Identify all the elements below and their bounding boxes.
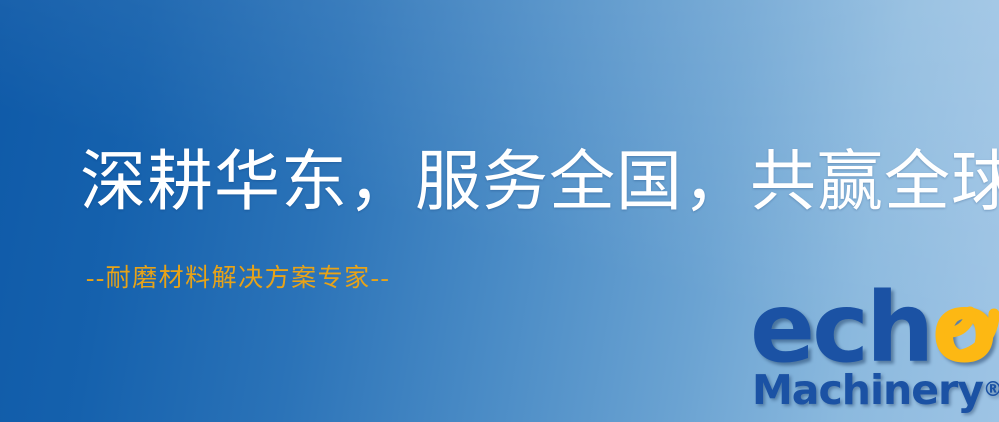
promo-banner: 深耕华东，服务全国，共赢全球 --耐磨材料解决方案专家-- echo Machi… [0,0,999,422]
logo-wordmark: echo [748,296,999,374]
echo-machinery-logo: echo Machinery® [748,296,999,422]
registered-trademark-icon: ® [983,377,999,401]
logo-machinery-text: Machinery [752,366,983,414]
banner-subtitle: --耐磨材料解决方案专家-- [86,266,390,291]
banner-headline: 深耕华东，服务全国，共赢全球 [80,150,999,216]
logo-company-name: Machinery® [752,370,999,411]
signal-waves-icon [934,296,999,358]
